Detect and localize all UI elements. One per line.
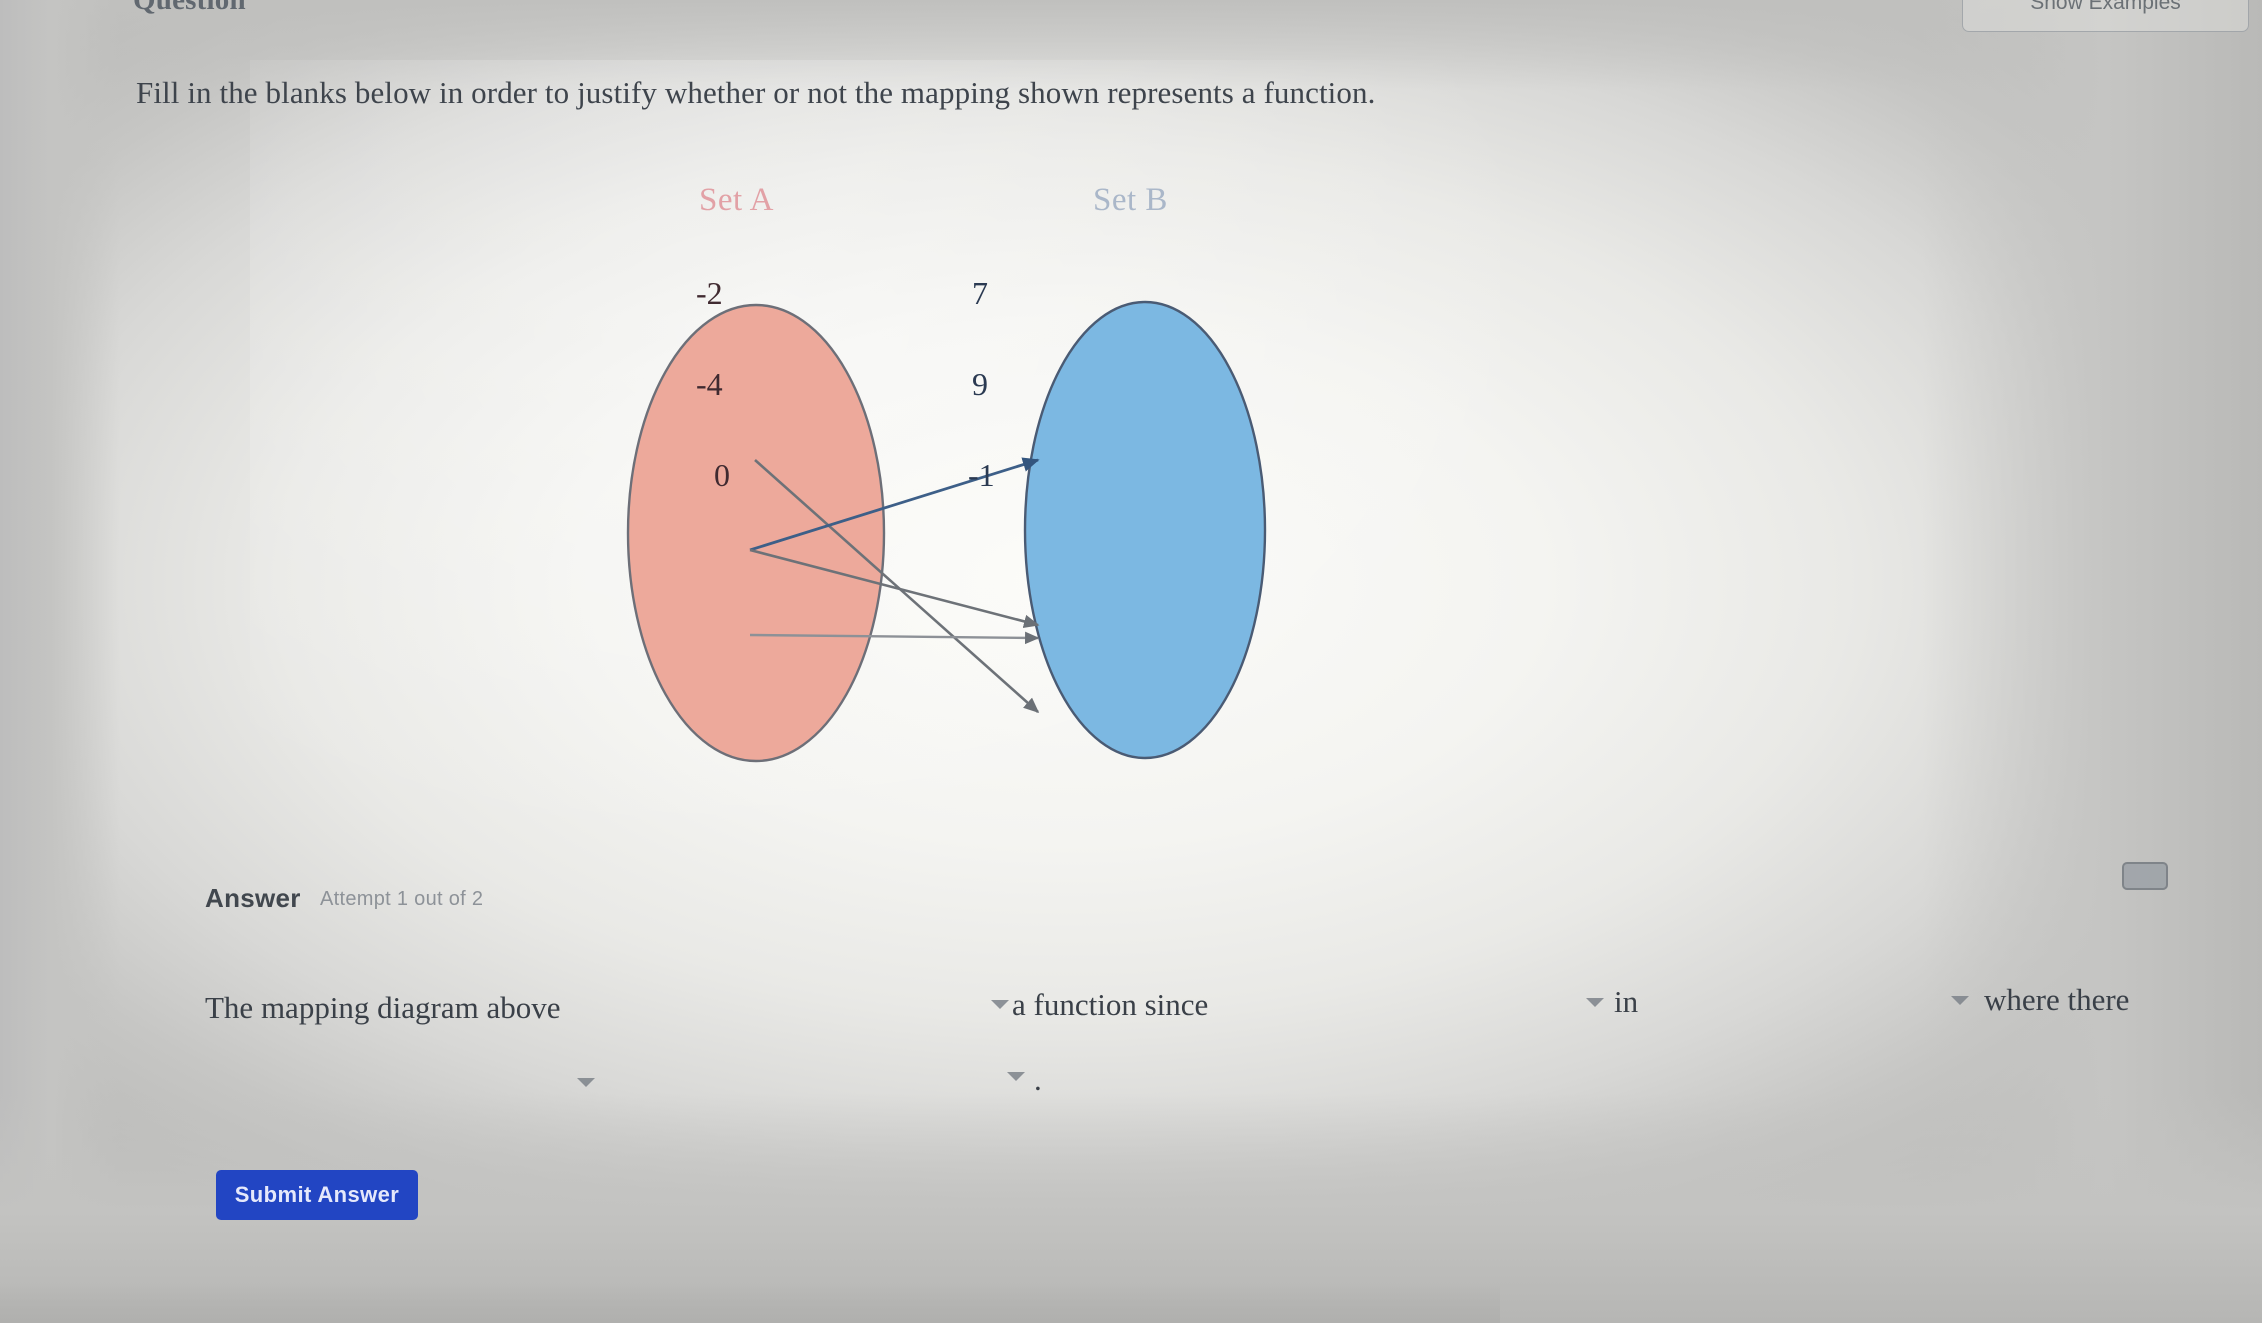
dropdown-2-chevron-down-icon[interactable] — [1586, 998, 1604, 1007]
set-a-value-1: -4 — [696, 366, 723, 403]
answer-text-segment-1: The mapping diagram above — [205, 990, 561, 1026]
dropdown-3-chevron-down-icon[interactable] — [1951, 996, 1969, 1005]
bottom-edge-shade — [0, 1283, 1500, 1323]
screenshot-root: Question Show Examples Fill in the blank… — [0, 0, 2262, 1323]
attempt-counter: Attempt 1 out of 2 — [320, 888, 483, 911]
answer-text-segment-2: a function since — [1012, 987, 1208, 1023]
calculator-icon[interactable] — [2122, 862, 2168, 890]
set-a-value-2: 0 — [714, 457, 730, 494]
answer-text-segment-4: where there — [1984, 982, 2129, 1018]
submit-answer-button[interactable]: Submit Answer — [216, 1170, 418, 1220]
set-b-value-2: -1 — [968, 457, 995, 494]
set-a-ellipse — [628, 305, 884, 761]
show-examples-button[interactable]: Show Examples — [1962, 0, 2249, 32]
page-title: Question — [133, 0, 246, 17]
set-b-ellipse — [1025, 302, 1265, 758]
dropdown-1-chevron-down-icon[interactable] — [991, 1000, 1009, 1009]
set-a-value-0: -2 — [696, 275, 723, 312]
dropdown-4-chevron-down-icon[interactable] — [577, 1078, 595, 1087]
question-prompt: Fill in the blanks below in order to jus… — [136, 75, 1375, 111]
submit-answer-label: Submit Answer — [235, 1182, 400, 1208]
dropdown-5-chevron-down-icon[interactable] — [1007, 1072, 1025, 1081]
set-b-value-0: 7 — [972, 275, 988, 312]
answer-heading: Answer — [205, 883, 301, 914]
set-b-value-1: 9 — [972, 366, 988, 403]
mapping-diagram: Set A Set B -2 — [600, 170, 1320, 790]
mapping-diagram-svg — [600, 170, 1320, 790]
answer-sentence-period: . — [1034, 1062, 1042, 1098]
answer-text-segment-3: in — [1614, 984, 1638, 1020]
show-examples-label: Show Examples — [2030, 0, 2181, 15]
